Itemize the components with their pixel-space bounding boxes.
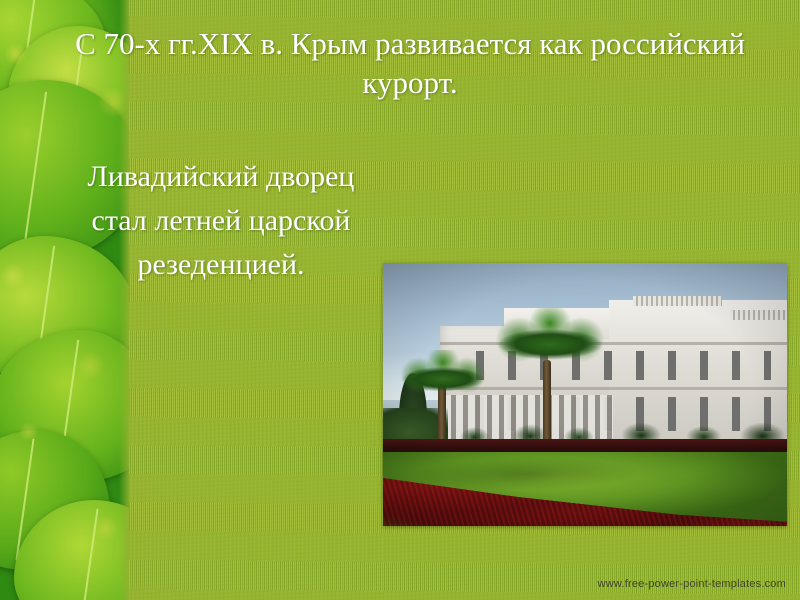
slide-title: С 70-х гг.XIX в. Крым развивается как ро… <box>60 24 760 103</box>
photo-vignette <box>383 263 787 526</box>
slide-body-text: Ливадийский дворец стал летней царской р… <box>62 155 380 287</box>
template-watermark: www.free-power-point-templates.com <box>598 578 786 590</box>
livadia-palace-photo <box>383 263 787 526</box>
presentation-slide: С 70-х гг.XIX в. Крым развивается как ро… <box>0 0 800 600</box>
